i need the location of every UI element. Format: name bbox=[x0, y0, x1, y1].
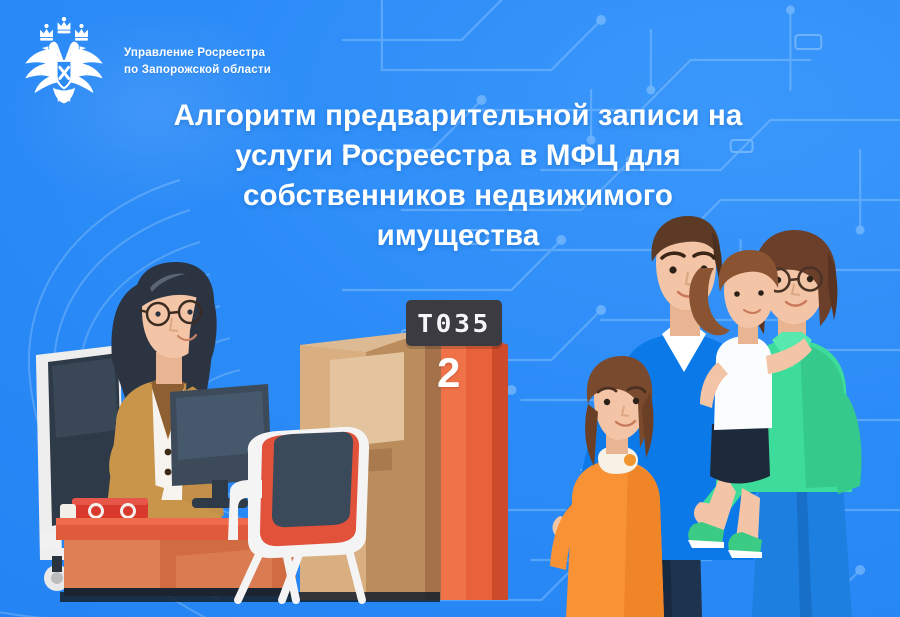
poster-canvas: T035 2 bbox=[0, 0, 900, 617]
older-daughter bbox=[550, 356, 664, 617]
rosreestr-double-headed-eagle-emblem bbox=[18, 14, 110, 106]
desk-binders bbox=[60, 498, 148, 520]
brand-header: Управление Росреестра по Запорожской обл… bbox=[18, 14, 271, 106]
title-line-4: имущества bbox=[128, 216, 788, 256]
title-line-3: собственников недвижимого bbox=[128, 176, 788, 216]
queue-ticket-number: T035 bbox=[417, 311, 491, 336]
title-line-2: услуги Росреестра в МФЦ для bbox=[128, 136, 788, 176]
org-name-block: Управление Росреестра по Запорожской обл… bbox=[124, 42, 271, 78]
family-of-four bbox=[550, 216, 861, 617]
queue-display-board: T035 bbox=[406, 300, 502, 346]
org-name-line-2: по Запорожской области bbox=[124, 63, 271, 78]
service-window-number: 2 bbox=[437, 352, 460, 394]
org-name-line-1: Управление Росреестра bbox=[124, 46, 271, 61]
page-title: Алгоритм предварительной записи на услуг… bbox=[128, 96, 788, 256]
title-line-1: Алгоритм предварительной записи на bbox=[128, 96, 788, 136]
